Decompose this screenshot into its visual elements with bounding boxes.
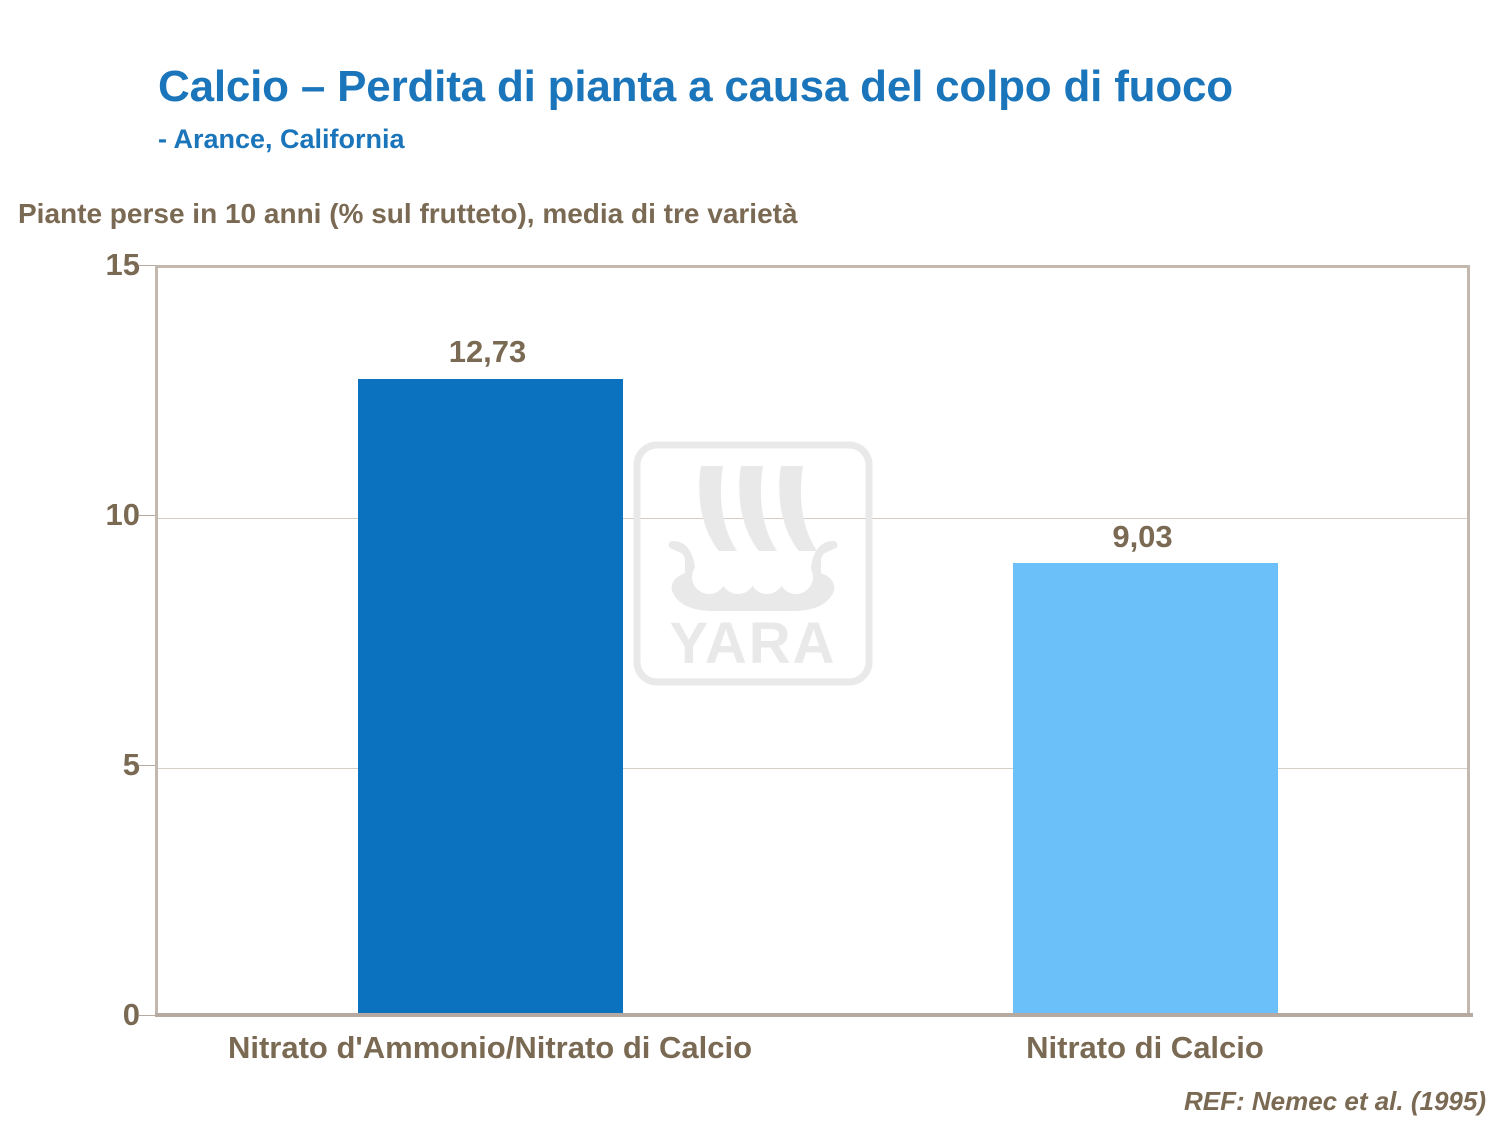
plot-area: YARA [155,265,1470,1015]
plot-inner: YARA [158,268,1467,1015]
chart-subtitle: - Arance, California [158,124,405,155]
yara-logo-watermark: YARA [633,441,873,686]
bar-value-label-2: 9,03 [1010,519,1275,555]
bar-nitrato-di-calcio[interactable] [1013,563,1278,1015]
x-category-label-2: Nitrato di Calcio [940,1030,1350,1066]
y-axis-title: Piante perse in 10 anni (% sul frutteto)… [18,198,798,230]
y-tick-mark-10 [139,515,155,516]
x-axis-line [155,1013,1473,1017]
y-tick-label-5: 5 [123,749,140,780]
y-tick-label-0: 0 [123,999,140,1030]
y-tick-label-10: 10 [106,499,140,530]
y-tick-mark-0 [139,1015,155,1016]
bar-nitrato-ammonio-nitrato-calcio[interactable] [358,379,623,1015]
chart-title: Calcio – Perdita di pianta a causa del c… [158,62,1233,112]
reference-note: REF: Nemec et al. (1995) [1184,1086,1486,1117]
y-tick-label-15: 15 [106,249,140,280]
svg-text:YARA: YARA [669,611,836,676]
bar-value-label-1: 12,73 [355,334,620,370]
y-tick-mark-15 [139,265,155,266]
y-tick-mark-5 [139,765,155,766]
x-category-label-1: Nitrato d'Ammonio/Nitrato di Calcio [160,1030,820,1066]
